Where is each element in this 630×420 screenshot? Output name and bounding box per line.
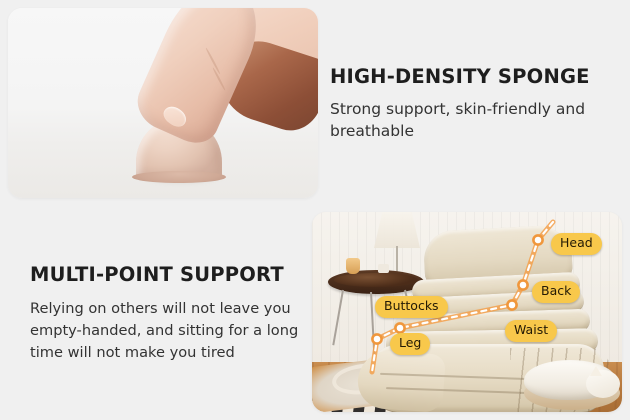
sponge-dome-base [132, 171, 226, 183]
body-point-label-waist[interactable]: Waist [505, 320, 557, 342]
sponge-subcopy: Strong support, skin-friendly and breath… [330, 98, 622, 142]
sponge-press-photo [8, 8, 318, 198]
node-buttocks[interactable] [395, 323, 404, 332]
body-point-label-head[interactable]: Head [551, 233, 602, 255]
sponge-text-block: HIGH-DENSITY SPONGE Strong support, skin… [330, 66, 622, 142]
support-text-block: MULTI-POINT SUPPORT Relying on others wi… [30, 264, 302, 364]
sponge-headline: HIGH-DENSITY SPONGE [330, 66, 622, 88]
body-point-label-buttocks[interactable]: Buttocks [375, 296, 448, 318]
node-waist[interactable] [507, 300, 516, 309]
sofa-body-map-photo: Head Back Waist Buttocks Leg [312, 212, 622, 412]
support-headline: MULTI-POINT SUPPORT [30, 264, 302, 286]
body-point-label-leg[interactable]: Leg [390, 333, 430, 355]
promo-layout: HIGH-DENSITY SPONGE Strong support, skin… [0, 0, 630, 420]
node-leg[interactable] [372, 334, 381, 343]
body-support-map-overlay: Head Back Waist Buttocks Leg [312, 212, 622, 412]
body-point-label-back[interactable]: Back [532, 281, 580, 303]
support-subcopy: Relying on others will not leave you emp… [30, 298, 302, 364]
node-back[interactable] [518, 280, 527, 289]
node-head[interactable] [533, 235, 542, 244]
